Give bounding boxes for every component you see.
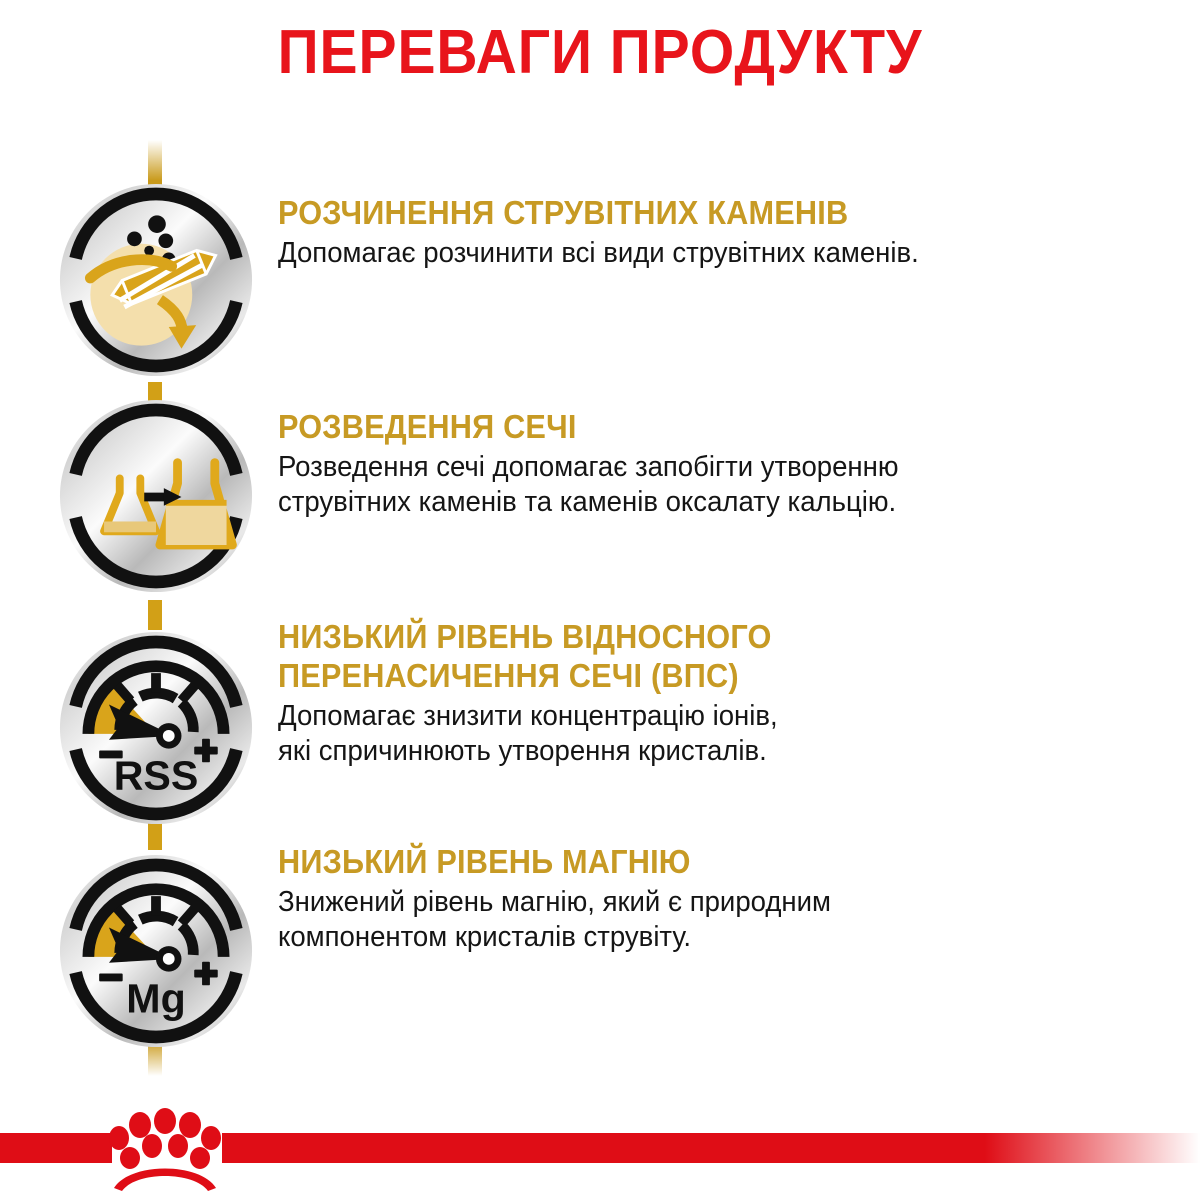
urine-dilution-flasks-icon [58, 398, 254, 594]
benefit-heading-2: РОЗВЕДЕННЯ СЕЧІ [278, 408, 1096, 447]
mg-gauge-label: Mg [126, 976, 185, 1022]
benefit-body-3: Допомагає знизити концентрацію іонів, як… [278, 699, 1114, 769]
footer [0, 1108, 1200, 1200]
royal-canin-crown-logo [100, 1108, 230, 1194]
dissolving-struvite-stone-icon [58, 182, 254, 378]
benefit-heading-1: РОЗЧИНЕННЯ СТРУВІТНИХ КАМЕНІВ [278, 194, 1096, 233]
benefit-body-4: Знижений рівень магнію, який є природним… [278, 885, 1114, 955]
benefit-body-2: Розведення сечі допомагає запобігти утво… [278, 450, 1114, 520]
magnesium-gauge-icon: Mg [58, 853, 254, 1049]
benefit-text-3: НИЗЬКИЙ РІВЕНЬ ВІДНОСНОГО ПЕРЕНАСИЧЕННЯ … [278, 618, 1158, 768]
benefit-text-2: РОЗВЕДЕННЯ СЕЧІ Розведення сечі допомага… [278, 408, 1158, 520]
benefit-heading-3: НИЗЬКИЙ РІВЕНЬ ВІДНОСНОГО ПЕРЕНАСИЧЕННЯ … [278, 618, 1096, 696]
rss-gauge-label: RSS [114, 753, 199, 799]
footer-bar-left [0, 1133, 112, 1163]
benefit-body-1: Допомагає розчинити всі види струвітних … [278, 236, 1114, 271]
benefits-page: ПЕРЕВАГИ ПРОДУКТУ [0, 0, 1200, 1200]
benefit-heading-4: НИЗЬКИЙ РІВЕНЬ МАГНІЮ [278, 843, 1096, 882]
footer-bar-right [222, 1133, 1200, 1163]
benefit-text-4: НИЗЬКИЙ РІВЕНЬ МАГНІЮ Знижений рівень ма… [278, 843, 1158, 955]
rail-dash-2 [148, 600, 162, 630]
rss-gauge-icon: RSS [58, 630, 254, 826]
page-title: ПЕРЕВАГИ ПРОДУКТУ [48, 22, 1152, 84]
benefit-text-1: РОЗЧИНЕННЯ СТРУВІТНИХ КАМЕНІВ Допомагає … [278, 194, 1158, 271]
